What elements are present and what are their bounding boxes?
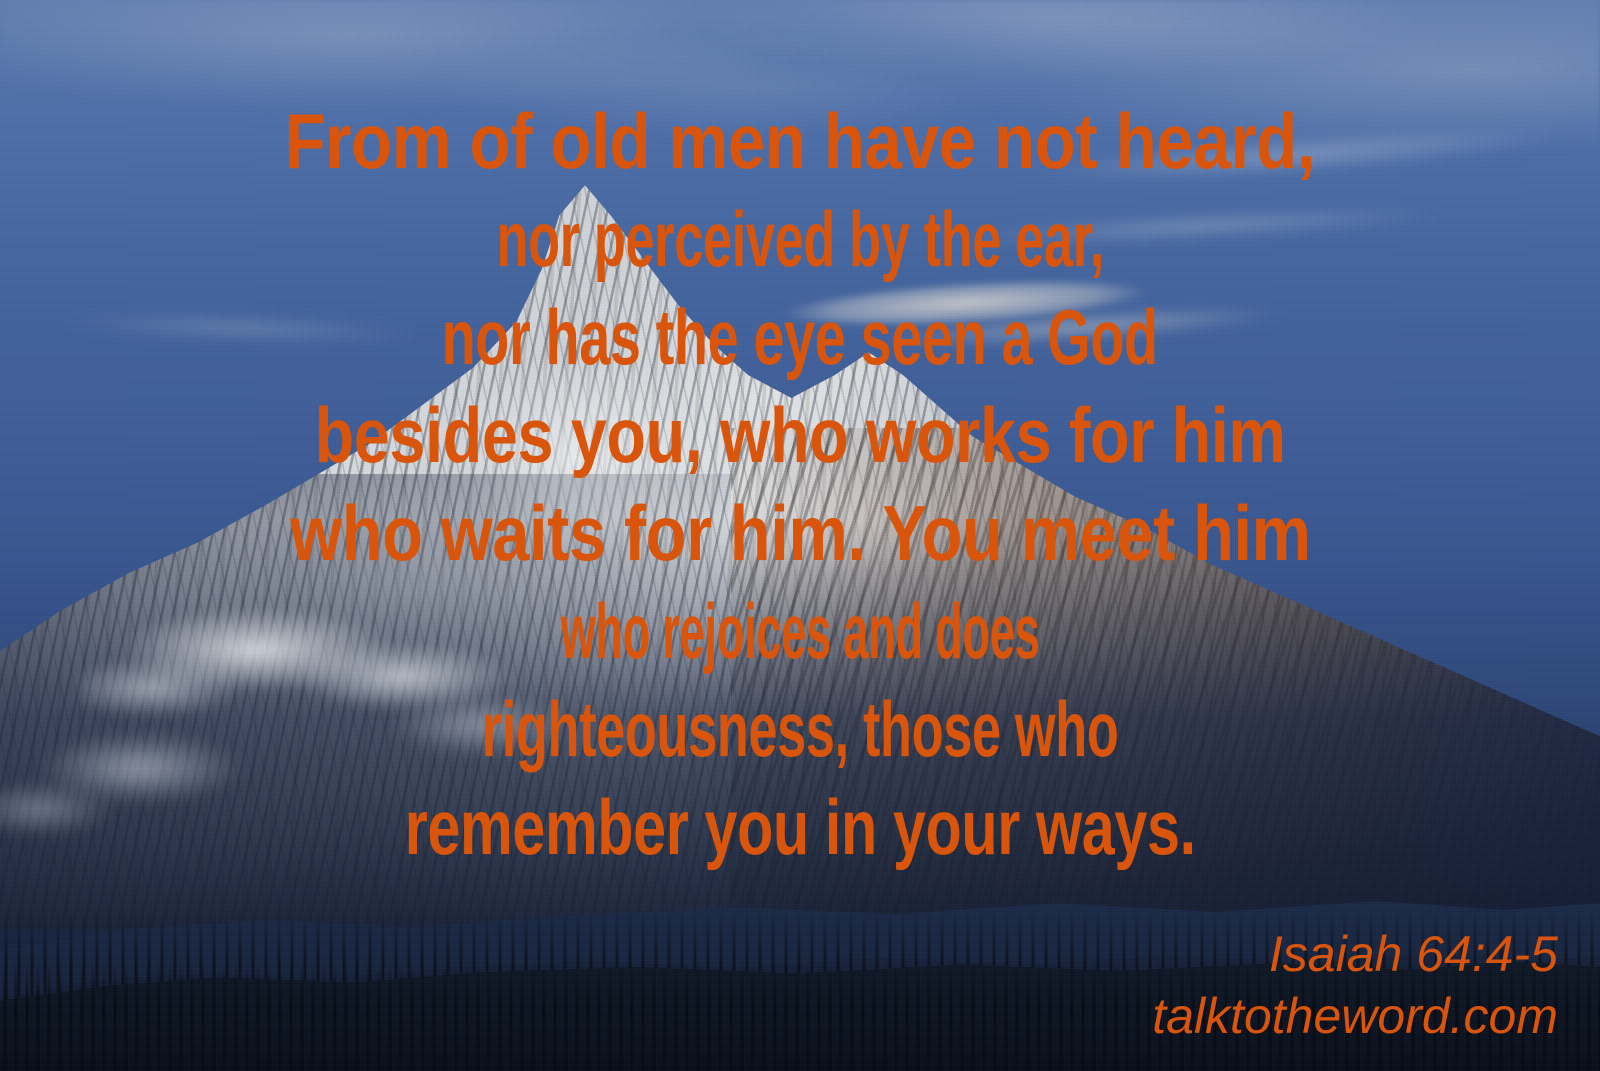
verse-line-2: nor perceived by the ear, [496,190,1103,288]
website-url: talktotheword.com [1152,985,1558,1047]
verse-line-3: nor has the eye seen a God [442,288,1158,386]
verse-line-6: who rejoices and does [560,582,1039,680]
verse-line-7: righteousness, those who [482,680,1119,778]
verse-line-8: remember you in your ways. [404,778,1195,876]
verse-text-block: From of old men have not heard, nor perc… [0,92,1600,876]
quote-image-canvas: From of old men have not heard, nor perc… [0,0,1600,1071]
verse-line-5: who waits for him. You meet him [290,484,1310,582]
scripture-reference: Isaiah 64:4-5 [1152,923,1558,985]
attribution-block: Isaiah 64:4-5 talktotheword.com [1152,923,1558,1047]
verse-line-1: From of old men have not heard, [285,92,1316,190]
verse-line-4: besides you, who works for him [314,386,1285,484]
